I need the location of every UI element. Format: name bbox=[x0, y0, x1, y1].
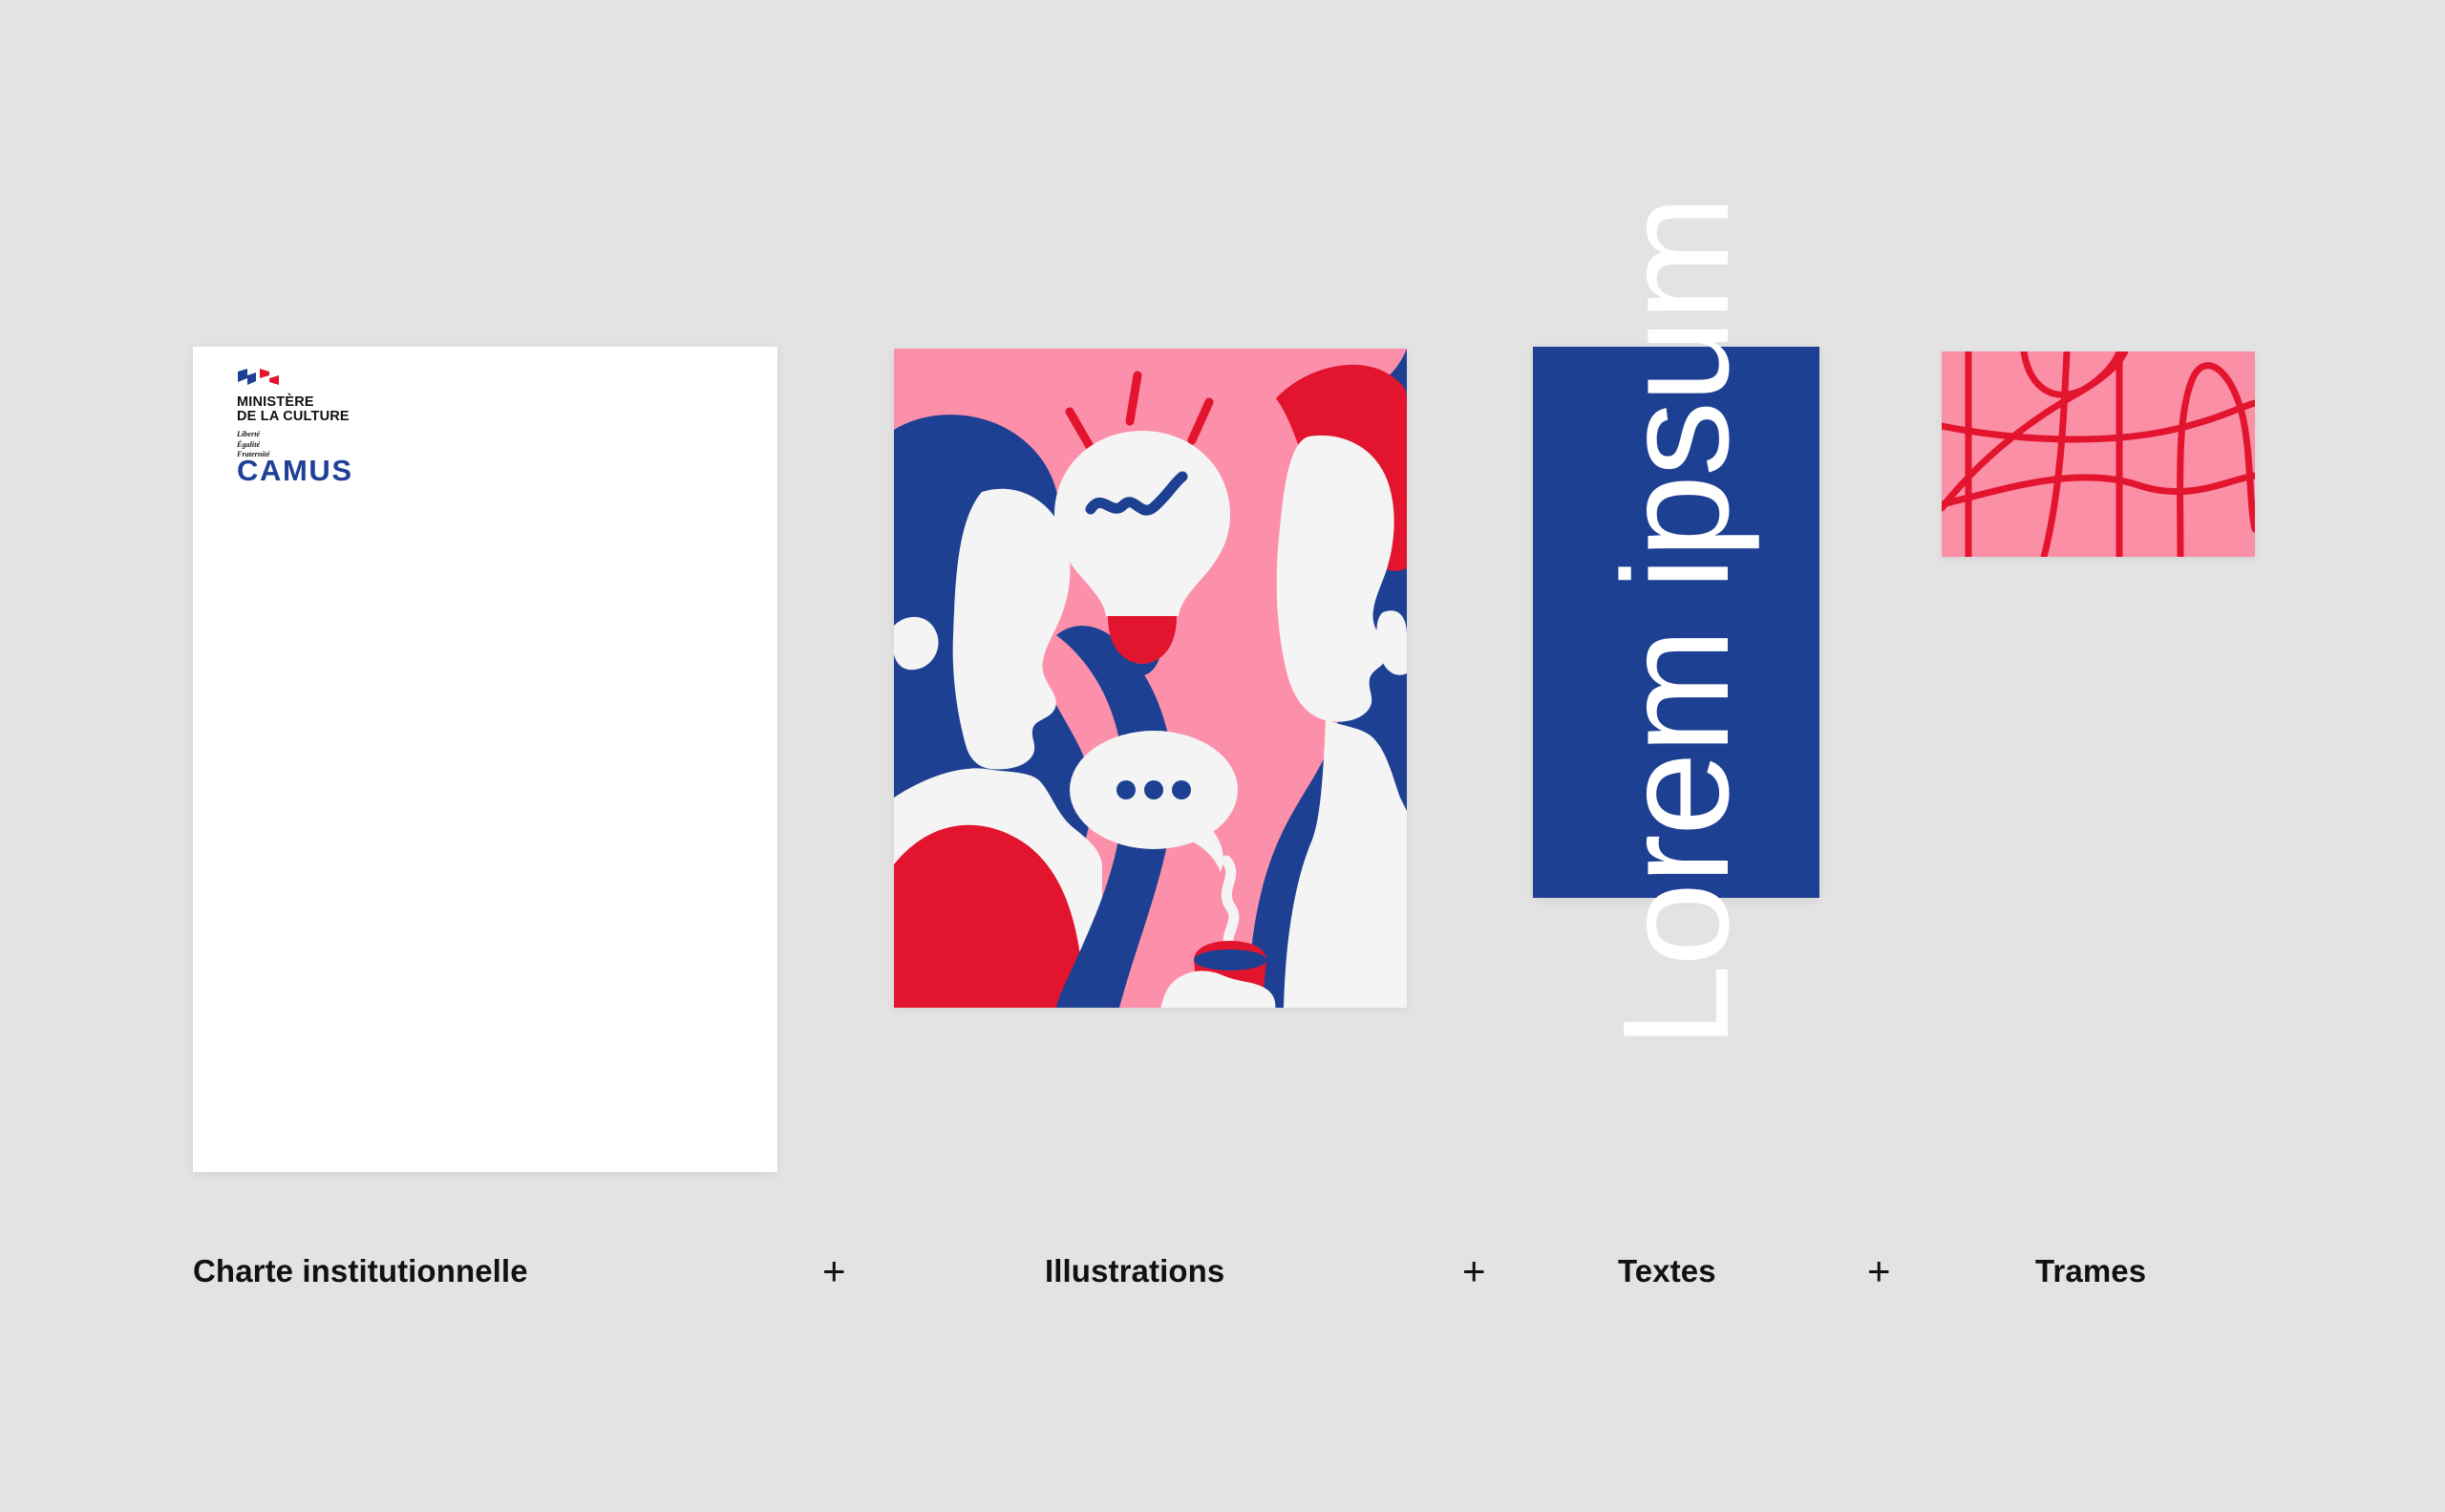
camus-wordmark: CAMUS bbox=[237, 454, 353, 488]
composition-canvas: MINISTÈRE DE LA CULTURE Liberté Égalité … bbox=[0, 0, 2445, 1512]
textes-panel[interactable] bbox=[1533, 347, 1819, 898]
french-flag-icon bbox=[237, 368, 290, 389]
ministry-logo: MINISTÈRE DE LA CULTURE Liberté Égalité … bbox=[237, 368, 351, 459]
caption-row: Charte institutionnelle + Illustrations … bbox=[0, 1253, 2445, 1320]
letterhead-card[interactable]: MINISTÈRE DE LA CULTURE Liberté Égalité … bbox=[193, 347, 777, 1172]
ministry-name: MINISTÈRE DE LA CULTURE bbox=[237, 395, 351, 424]
trames-card[interactable] bbox=[1942, 351, 2255, 557]
caption-charte-institutionnelle: Charte institutionnelle bbox=[193, 1253, 528, 1289]
illustration-artwork bbox=[894, 349, 1407, 1008]
plus-separator-1: + bbox=[822, 1251, 846, 1291]
illustration-card[interactable] bbox=[894, 349, 1407, 1008]
caption-trames: Trames bbox=[2035, 1253, 2146, 1289]
caption-illustrations: Illustrations bbox=[1045, 1253, 1224, 1289]
caption-textes: Textes bbox=[1618, 1253, 1716, 1289]
plus-separator-2: + bbox=[1462, 1251, 1486, 1291]
trames-pattern bbox=[1942, 351, 2255, 557]
speech-bubble-dots bbox=[1116, 780, 1191, 799]
plus-separator-3: + bbox=[1867, 1251, 1891, 1291]
